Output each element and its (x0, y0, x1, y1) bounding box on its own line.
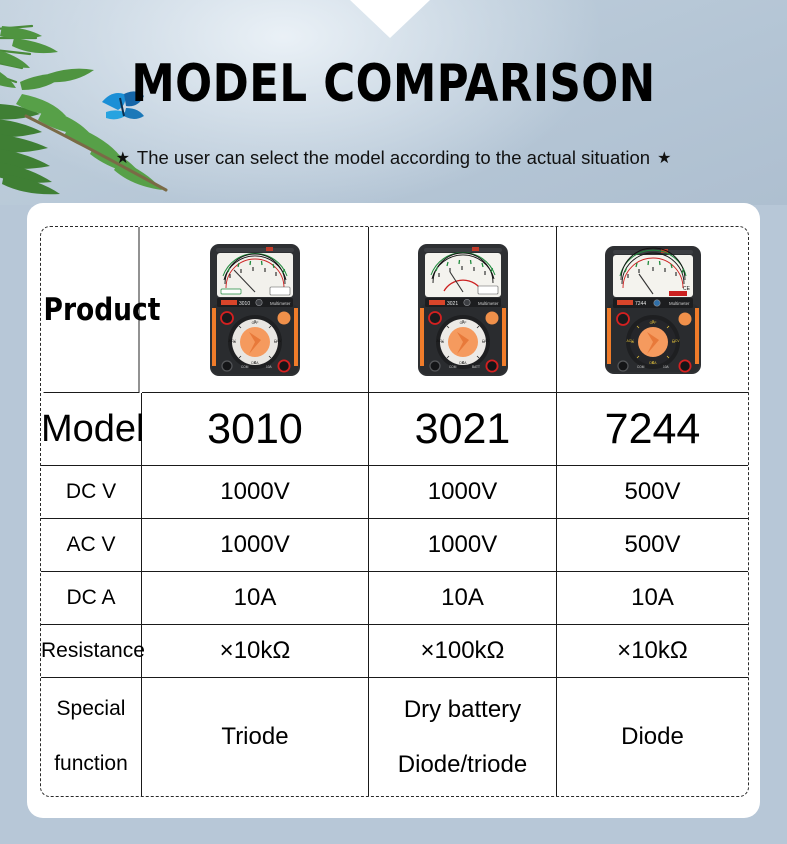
special-function-col3-line1: Diode (557, 709, 748, 764)
resistance-value-col1: ×10kΩ (142, 625, 369, 678)
hero-banner: MODEL COMPARISON ★The user can select th… (0, 0, 787, 205)
special-function-value-col1: Triode (142, 678, 369, 796)
table-row-resistance: Resistance ×10kΩ ×100kΩ ×10kΩ (41, 625, 748, 678)
table-row-ac-voltage: AC V 1000V 1000V 500V (41, 519, 748, 572)
comparison-card: Product (27, 203, 760, 818)
dc-voltage-value-col3: 500V (557, 466, 748, 519)
special-function-col1-line1: Triode (142, 709, 368, 764)
dc-voltage-value-col1: 1000V (142, 466, 369, 519)
resistance-value-col2: ×100kΩ (369, 625, 557, 678)
model-value-col1: 3010 (142, 393, 369, 466)
table-row-model: Model 3010 3021 7244 (41, 393, 748, 466)
svg-text:BATT: BATT (472, 365, 480, 369)
svg-text:7244: 7244 (635, 301, 646, 307)
svg-text:3010: 3010 (239, 301, 250, 307)
svg-text:COM: COM (241, 365, 249, 369)
dc-current-value-col3: 10A (557, 572, 748, 625)
analog-multimeter-3021-icon: 3021 Multimeter OFFACVDCVDCA (416, 242, 510, 378)
svg-text:Multimeter: Multimeter (270, 301, 291, 306)
top-notch-triangle (350, 0, 430, 38)
row-label-dc-voltage: DC V (41, 466, 142, 519)
dc-current-value-col1: 10A (142, 572, 369, 625)
resistance-value-col3: ×10kΩ (557, 625, 748, 678)
analog-multimeter-7244-icon: CE 7244 Multimeter OF (603, 242, 703, 378)
row-label-dc-current: DC A (41, 572, 142, 625)
analog-multimeter-3010-icon: 3010 Multimeter OFFACVDCVDCA (208, 242, 302, 378)
row-label-resistance: Resistance (41, 625, 142, 678)
svg-text:10A: 10A (663, 365, 670, 369)
svg-text:Multimeter: Multimeter (669, 301, 690, 306)
table-row-dc-current: DC A 10A 10A 10A (41, 572, 748, 625)
row-label-ac-voltage: AC V (41, 519, 142, 572)
ac-voltage-value-col1: 1000V (142, 519, 369, 572)
special-function-label-line2: function (41, 737, 141, 792)
product-cell-3021: 3021 Multimeter OFFACVDCVDCA (369, 227, 557, 393)
table-row-dc-voltage: DC V 1000V 1000V 500V (41, 466, 748, 519)
special-function-label-line1: Special (41, 682, 141, 737)
product-cell-7244: CE 7244 Multimeter OF (557, 227, 748, 393)
special-function-col2-line1: Dry battery (369, 682, 556, 737)
special-function-col2-line2: Diode/triode (369, 737, 556, 792)
row-label-model: Model (41, 393, 142, 466)
special-function-value-col2: Dry battery Diode/triode (369, 678, 557, 796)
star-icon-left: ★ (116, 150, 130, 167)
dc-current-value-col2: 10A (369, 572, 557, 625)
star-icon-right: ★ (657, 150, 671, 167)
page-subtitle-text: The user can select the model according … (130, 147, 657, 168)
row-label-product: Product (44, 227, 140, 393)
table-row-special-function: Special function Triode Dry battery Diod… (41, 678, 748, 796)
ac-voltage-value-col2: 1000V (369, 519, 557, 572)
ac-voltage-value-col3: 500V (557, 519, 748, 572)
table-row-product: Product (41, 227, 748, 393)
svg-text:COM: COM (449, 365, 457, 369)
svg-text:3021: 3021 (447, 301, 458, 307)
special-function-value-col3: Diode (557, 678, 748, 796)
product-cell-3010: 3010 Multimeter OFFACVDCVDCA (142, 227, 369, 393)
row-label-special-function: Special function (41, 678, 142, 796)
model-value-col2: 3021 (369, 393, 557, 466)
model-value-col3: 7244 (557, 393, 748, 466)
dc-voltage-value-col2: 1000V (369, 466, 557, 519)
svg-text:10A: 10A (266, 365, 273, 369)
model-comparison-table: Product (40, 226, 749, 797)
page-title: MODEL COMPARISON (28, 58, 760, 110)
svg-text:Multimeter: Multimeter (478, 301, 499, 306)
svg-text:COM: COM (637, 365, 645, 369)
page-subtitle: ★The user can select the model according… (0, 147, 787, 169)
